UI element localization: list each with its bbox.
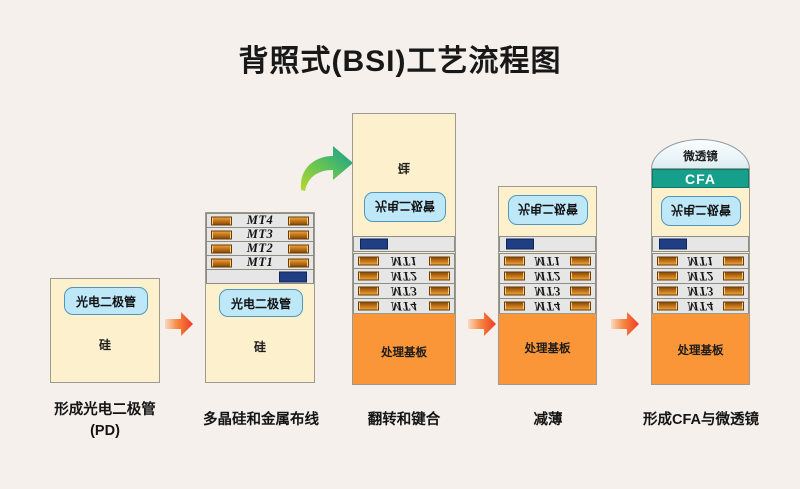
step3-stack: 硅 光电二极管 MT1 MT2 MT3 bbox=[352, 113, 456, 385]
via-icon bbox=[657, 272, 678, 281]
step2-metal-row-mt4: MT4 bbox=[206, 213, 314, 228]
step-3-caption: 翻转和键合 bbox=[330, 410, 478, 431]
step4-mt2-label: MT2 bbox=[534, 269, 561, 284]
step3-silicon-label: 硅 bbox=[353, 160, 455, 177]
step5-mt2-label: MT2 bbox=[687, 269, 714, 284]
step1-silicon-substrate: 光电二极管 硅 bbox=[50, 278, 160, 383]
via-icon bbox=[358, 272, 379, 281]
step5-photodiode: 光电二极管 bbox=[661, 196, 741, 226]
step4-metal-row-mt3: MT3 bbox=[499, 283, 596, 299]
step5-metal-row-mt2: MT2 bbox=[652, 268, 749, 284]
step3-metal-row-mt2: MT2 bbox=[353, 268, 455, 284]
step5-microlens: 微透镜 bbox=[651, 139, 750, 169]
step3-metal-row-mt4: MT4 bbox=[353, 298, 455, 314]
step5-photodiode-label: 光电二极管 bbox=[671, 203, 731, 220]
via-icon bbox=[504, 287, 525, 296]
step2-stack: MT4 MT3 MT2 MT1 bbox=[205, 212, 315, 383]
step2-metal-row-mt1: MT1 bbox=[206, 255, 314, 270]
via-icon bbox=[504, 257, 525, 266]
step2-photodiode: 光电二极管 bbox=[219, 289, 303, 317]
step2-mt2-label: MT2 bbox=[247, 241, 274, 256]
step2-poly-row bbox=[206, 269, 314, 284]
step4-poly-row bbox=[499, 236, 596, 252]
via-icon bbox=[429, 272, 450, 281]
step4-photodiode-label: 光电二极管 bbox=[518, 202, 578, 219]
via-icon bbox=[358, 287, 379, 296]
via-icon bbox=[288, 230, 309, 239]
step4-metal-row-mt2: MT2 bbox=[499, 268, 596, 284]
step5-cfa-label: CFA bbox=[685, 171, 716, 187]
step2-photodiode-label: 光电二极管 bbox=[231, 295, 291, 312]
step4-mt3-label: MT3 bbox=[534, 284, 561, 299]
via-icon bbox=[504, 272, 525, 281]
via-icon bbox=[211, 244, 232, 253]
step5-cfa-layer: CFA bbox=[652, 169, 749, 188]
via-icon bbox=[570, 287, 591, 296]
step3-metal-row-mt3: MT3 bbox=[353, 283, 455, 299]
via-icon bbox=[429, 257, 450, 266]
step3-caption-line1: 翻转和键合 bbox=[330, 410, 478, 431]
via-icon bbox=[657, 257, 678, 266]
step-5-diagram: CFA 光电二极管 MT1 MT2 MT3 bbox=[651, 168, 750, 385]
via-icon bbox=[657, 287, 678, 296]
arrow-step1-to-step2 bbox=[163, 310, 195, 338]
via-icon bbox=[570, 272, 591, 281]
step-2-diagram: MT4 MT3 MT2 MT1 bbox=[205, 212, 315, 383]
step-4-caption: 减薄 bbox=[492, 410, 604, 431]
step1-caption-line1: 形成光电二极管 bbox=[20, 400, 190, 421]
step3-photodiode-label: 光电二极管 bbox=[375, 199, 435, 216]
step4-mt1-label: MT1 bbox=[534, 254, 561, 269]
poly-gate-icon bbox=[506, 239, 534, 250]
poly-gate-icon bbox=[279, 271, 307, 282]
step5-mt4-label: MT4 bbox=[687, 299, 714, 314]
arrow-step3-to-step4 bbox=[466, 310, 498, 338]
step3-mt2-label: MT2 bbox=[391, 269, 418, 284]
step1-photodiode: 光电二极管 bbox=[64, 287, 148, 315]
step2-metal-row-mt3: MT3 bbox=[206, 227, 314, 242]
step4-handle-substrate: 处理基板 bbox=[499, 313, 596, 384]
step-3-diagram: 硅 光电二极管 MT1 MT2 MT3 bbox=[352, 113, 456, 385]
step5-handle-substrate: 处理基板 bbox=[652, 313, 749, 384]
step5-microlens-label: 微透镜 bbox=[683, 148, 718, 169]
diagram-canvas: 背照式(BSI)工艺流程图 光电二极管 硅 形成光电二极管 (PD) MT4 bbox=[0, 0, 800, 489]
step-5-caption: 形成CFA与微透镜 bbox=[620, 410, 782, 431]
step5-handle-label: 处理基板 bbox=[652, 342, 749, 358]
via-icon bbox=[429, 302, 450, 311]
via-icon bbox=[723, 272, 744, 281]
via-icon bbox=[570, 257, 591, 266]
step-1-caption: 形成光电二极管 (PD) bbox=[20, 400, 190, 442]
via-icon bbox=[211, 230, 232, 239]
step4-metal-row-mt1: MT1 bbox=[499, 253, 596, 269]
step2-silicon-label: 硅 bbox=[206, 338, 314, 355]
via-icon bbox=[358, 302, 379, 311]
step1-caption-line2: (PD) bbox=[20, 421, 190, 442]
via-icon bbox=[723, 302, 744, 311]
step3-metal-row-mt1: MT1 bbox=[353, 253, 455, 269]
arrow-step4-to-step5 bbox=[609, 310, 641, 338]
via-icon bbox=[723, 287, 744, 296]
via-icon bbox=[570, 302, 591, 311]
step3-photodiode: 光电二极管 bbox=[364, 192, 446, 222]
poly-gate-icon bbox=[659, 239, 687, 250]
via-icon bbox=[504, 302, 525, 311]
via-icon bbox=[723, 257, 744, 266]
step5-mt3-label: MT3 bbox=[687, 284, 714, 299]
step3-mt3-label: MT3 bbox=[391, 284, 418, 299]
step2-mt4-label: MT4 bbox=[247, 213, 274, 228]
page-title: 背照式(BSI)工艺流程图 bbox=[0, 36, 800, 80]
step5-metal-row-mt1: MT1 bbox=[652, 253, 749, 269]
step5-caption-line1: 形成CFA与微透镜 bbox=[620, 410, 782, 431]
via-icon bbox=[358, 257, 379, 266]
step4-mt4-label: MT4 bbox=[534, 299, 561, 314]
step3-handle-label: 处理基板 bbox=[353, 344, 455, 360]
arrow-step2-to-step3 bbox=[295, 142, 357, 194]
step4-metal-row-mt4: MT4 bbox=[499, 298, 596, 314]
via-icon bbox=[211, 216, 232, 225]
step2-metal-row-mt2: MT2 bbox=[206, 241, 314, 256]
step5-metal-row-mt4: MT4 bbox=[652, 298, 749, 314]
poly-gate-icon bbox=[360, 239, 388, 250]
step-1-diagram: 光电二极管 硅 bbox=[50, 278, 160, 383]
step4-photodiode: 光电二极管 bbox=[508, 195, 588, 225]
via-icon bbox=[288, 258, 309, 267]
via-icon bbox=[211, 258, 232, 267]
step3-mt4-label: MT4 bbox=[391, 299, 418, 314]
via-icon bbox=[288, 216, 309, 225]
step3-poly-row bbox=[353, 236, 455, 252]
step4-handle-label: 处理基板 bbox=[499, 340, 596, 356]
step-2-caption: 多晶硅和金属布线 bbox=[175, 410, 347, 431]
step2-mt3-label: MT3 bbox=[247, 227, 274, 242]
step3-mt1-label: MT1 bbox=[391, 254, 418, 269]
step-4-diagram: 光电二极管 MT1 MT2 MT3 MT4 bbox=[498, 186, 597, 385]
step3-handle-substrate: 处理基板 bbox=[353, 313, 455, 384]
step5-poly-row bbox=[652, 236, 749, 252]
step5-mt1-label: MT1 bbox=[687, 254, 714, 269]
step4-stack: 光电二极管 MT1 MT2 MT3 MT4 bbox=[498, 186, 597, 385]
step4-caption-line1: 减薄 bbox=[492, 410, 604, 431]
via-icon bbox=[429, 287, 450, 296]
via-icon bbox=[657, 302, 678, 311]
step1-silicon-label: 硅 bbox=[51, 336, 159, 353]
step5-metal-row-mt3: MT3 bbox=[652, 283, 749, 299]
via-icon bbox=[288, 244, 309, 253]
step2-mt1-label: MT1 bbox=[247, 255, 274, 270]
step2-caption-line1: 多晶硅和金属布线 bbox=[175, 410, 347, 431]
step1-photodiode-label: 光电二极管 bbox=[76, 293, 136, 310]
step5-stack: CFA 光电二极管 MT1 MT2 MT3 bbox=[651, 168, 750, 385]
